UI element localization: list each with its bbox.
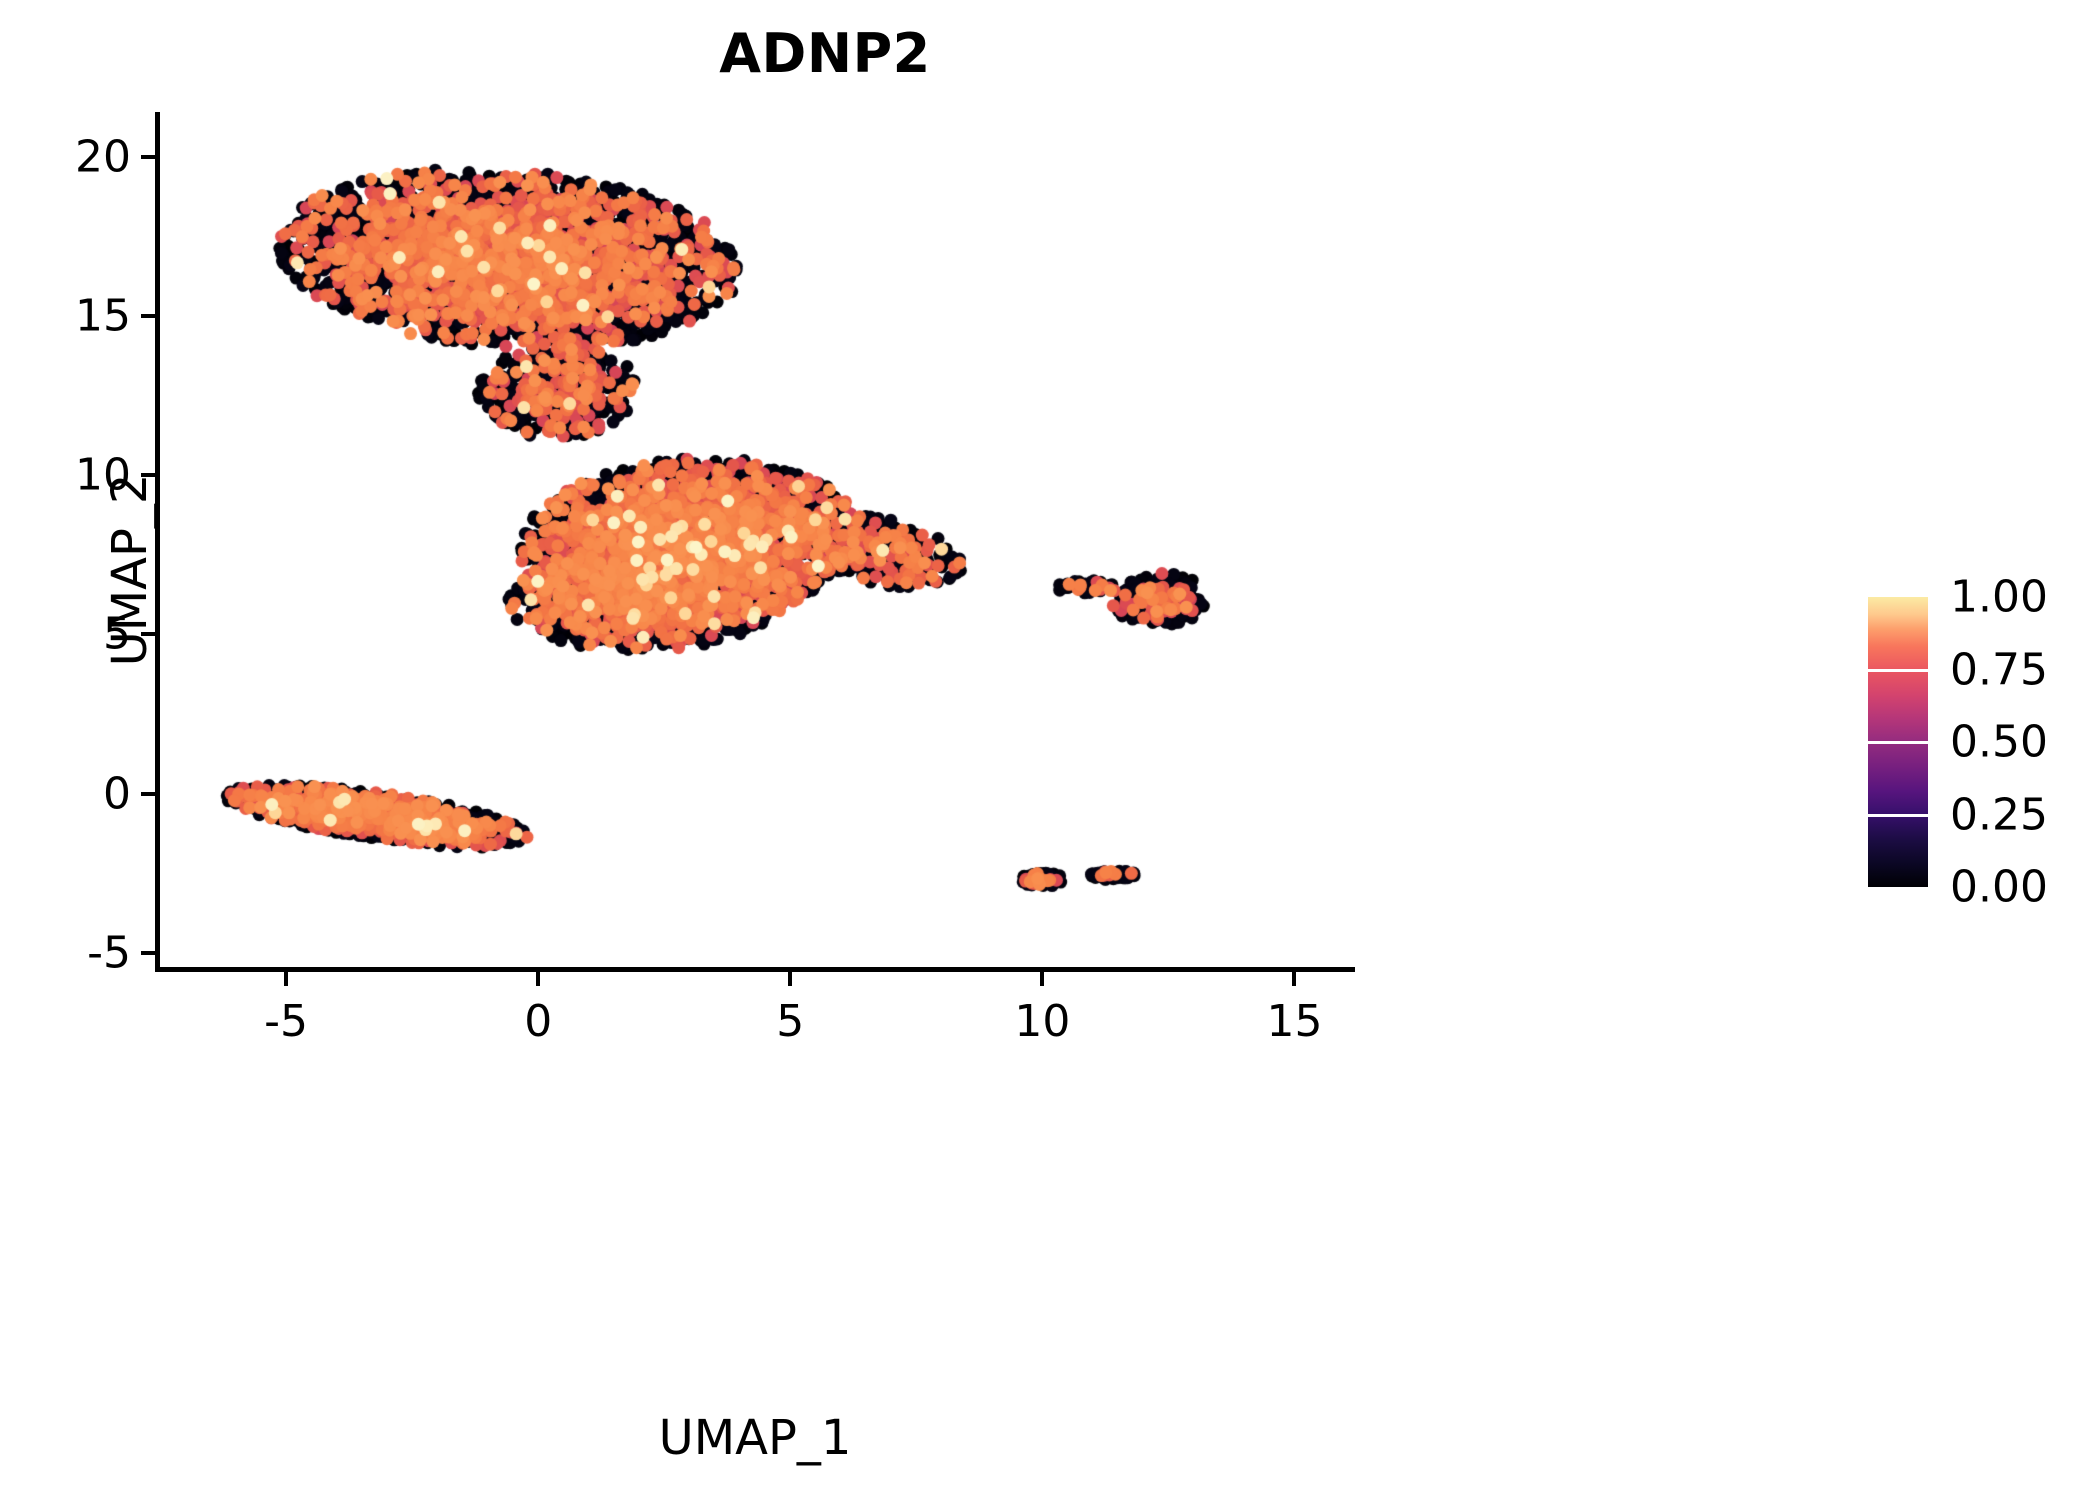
x-tick-label: 0 — [524, 996, 552, 1047]
page-title: ADNP2 — [0, 22, 1650, 85]
x-tick-mark — [536, 972, 540, 986]
colorbar-tick-mark — [1868, 741, 1928, 744]
x-tick-label: 15 — [1266, 996, 1322, 1047]
x-tick-mark — [1040, 972, 1044, 986]
x-tick-mark — [1292, 972, 1296, 986]
figure-canvas: ADNP2 -505101520 -5051015 UMAP_1 UMAP_2 … — [0, 0, 2100, 1500]
scatter-plot — [155, 112, 1355, 972]
x-tick-label: -5 — [264, 996, 308, 1047]
colorbar-tick-label: 0.25 — [1950, 789, 2048, 840]
colorbar-tick-mark — [1868, 669, 1928, 672]
colorbar-tick-label: 0.50 — [1950, 717, 2048, 768]
colorbar-tick-label: 0.75 — [1950, 644, 2048, 695]
colorbar-tick-mark — [1868, 814, 1928, 817]
colorbar-tick-label: 0.00 — [1950, 862, 2048, 913]
plot-axes: -505101520 -5051015 — [155, 112, 1355, 972]
x-tick-label: 10 — [1014, 996, 1070, 1047]
x-tick-mark — [788, 972, 792, 986]
x-axis-spine — [155, 967, 1355, 972]
colorbar-tick-label: 1.00 — [1950, 572, 2048, 623]
x-tick-mark — [284, 972, 288, 986]
y-axis-label: UMAP_2 — [102, 140, 158, 1000]
colorbar: 0.000.250.500.751.00 — [1868, 597, 2088, 887]
x-axis-label: UMAP_1 — [155, 1410, 1355, 1466]
x-tick-label: 5 — [776, 996, 804, 1047]
